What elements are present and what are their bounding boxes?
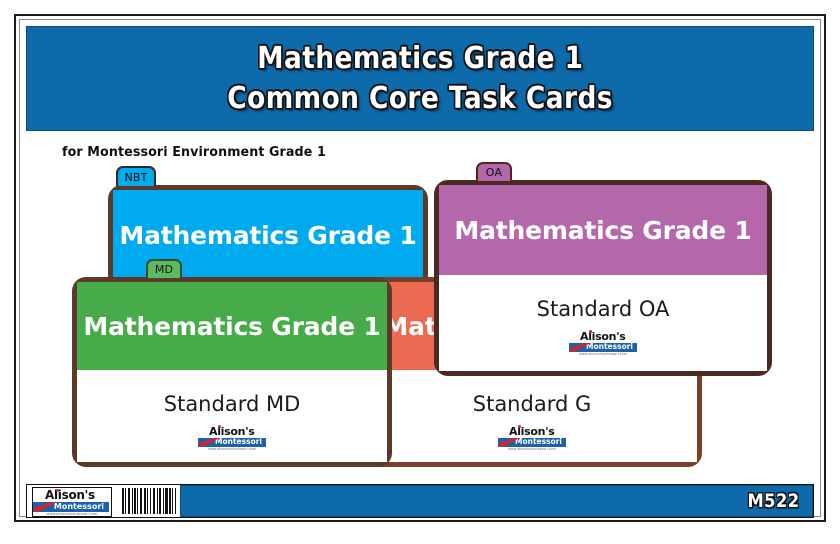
- card-tab-nbt-label: NBT: [124, 171, 147, 184]
- card-tab-oa[interactable]: OA: [476, 162, 512, 181]
- card-oa-body: Standard OA Alison's Montessori www.alis…: [439, 275, 767, 371]
- logo-brand-bottom: Montessori: [54, 503, 104, 511]
- logo-brand-top: Alison's: [45, 489, 95, 501]
- logo-url: www.alisonsmontessori.com: [498, 447, 566, 451]
- logo-brand-bottom: Montessori: [515, 438, 562, 446]
- header-title-line-2: Common Core Task Cards: [227, 82, 613, 116]
- card-oa[interactable]: Mathematics Grade 1 Standard OA Alison's…: [434, 180, 772, 376]
- card-oa-head-label: Mathematics Grade 1: [454, 216, 751, 245]
- poster-root: Mathematics Grade 1 Common Core Task Car…: [0, 0, 840, 544]
- header-banner: Mathematics Grade 1 Common Core Task Car…: [26, 26, 814, 131]
- logo-brand-top: Alison's: [209, 426, 255, 437]
- card-md[interactable]: Mathematics Grade 1 Standard MD Alison's…: [72, 277, 392, 467]
- card-oa-standard-label: Standard OA: [537, 297, 670, 321]
- card-md-standard-label: Standard MD: [164, 392, 301, 416]
- logo-brand-top: Alison's: [509, 426, 555, 437]
- alisons-montessori-logo: Alison's Montessori www.alisonsmontessor…: [569, 330, 637, 356]
- logo-brand-bottom: Montessori: [586, 343, 633, 351]
- footer-code-bar: M522: [180, 485, 813, 517]
- alisons-montessori-logo: Alison's Montessori www.alisonsmontessor…: [498, 425, 566, 451]
- logo-url: www.alisonsmontessori.com: [569, 352, 637, 356]
- card-tab-nbt[interactable]: NBT: [116, 166, 156, 186]
- card-md-body: Standard MD Alison's Montessori www.alis…: [77, 370, 387, 462]
- subtitle-text: for Montessori Environment Grade 1: [62, 144, 326, 160]
- card-md-head-label: Mathematics Grade 1: [83, 312, 380, 341]
- alisons-montessori-logo: Alison's Montessori www.alisonsmontessor…: [198, 425, 266, 451]
- logo-url: www.alisonsmontessori.com: [33, 512, 111, 516]
- footer-logo-cell: Alison's Montessori www.alisonsmontessor…: [27, 485, 120, 517]
- card-md-head: Mathematics Grade 1: [77, 282, 387, 370]
- logo-url: www.alisonsmontessori.com: [198, 447, 266, 451]
- alisons-montessori-logo: Alison's Montessori www.alisonsmontessor…: [32, 487, 112, 517]
- card-oa-head: Mathematics Grade 1: [439, 185, 767, 275]
- barcode: [120, 485, 180, 517]
- footer-product-code: M522: [748, 490, 800, 512]
- card-g-body: Standard G Alison's Montessori www.aliso…: [367, 370, 697, 462]
- logo-brand-top: Alison's: [580, 331, 626, 342]
- footer-bar: Alison's Montessori www.alisonsmontessor…: [26, 484, 814, 518]
- card-tab-md-label: MD: [155, 263, 173, 276]
- card-tab-oa-label: OA: [486, 166, 502, 179]
- card-nbt-head-label: Mathematics Grade 1: [119, 221, 416, 250]
- card-g-standard-label: Standard G: [473, 392, 591, 416]
- header-title-line-1: Mathematics Grade 1: [257, 42, 583, 76]
- card-tab-md[interactable]: MD: [146, 259, 182, 278]
- logo-brand-bottom: Montessori: [215, 438, 262, 446]
